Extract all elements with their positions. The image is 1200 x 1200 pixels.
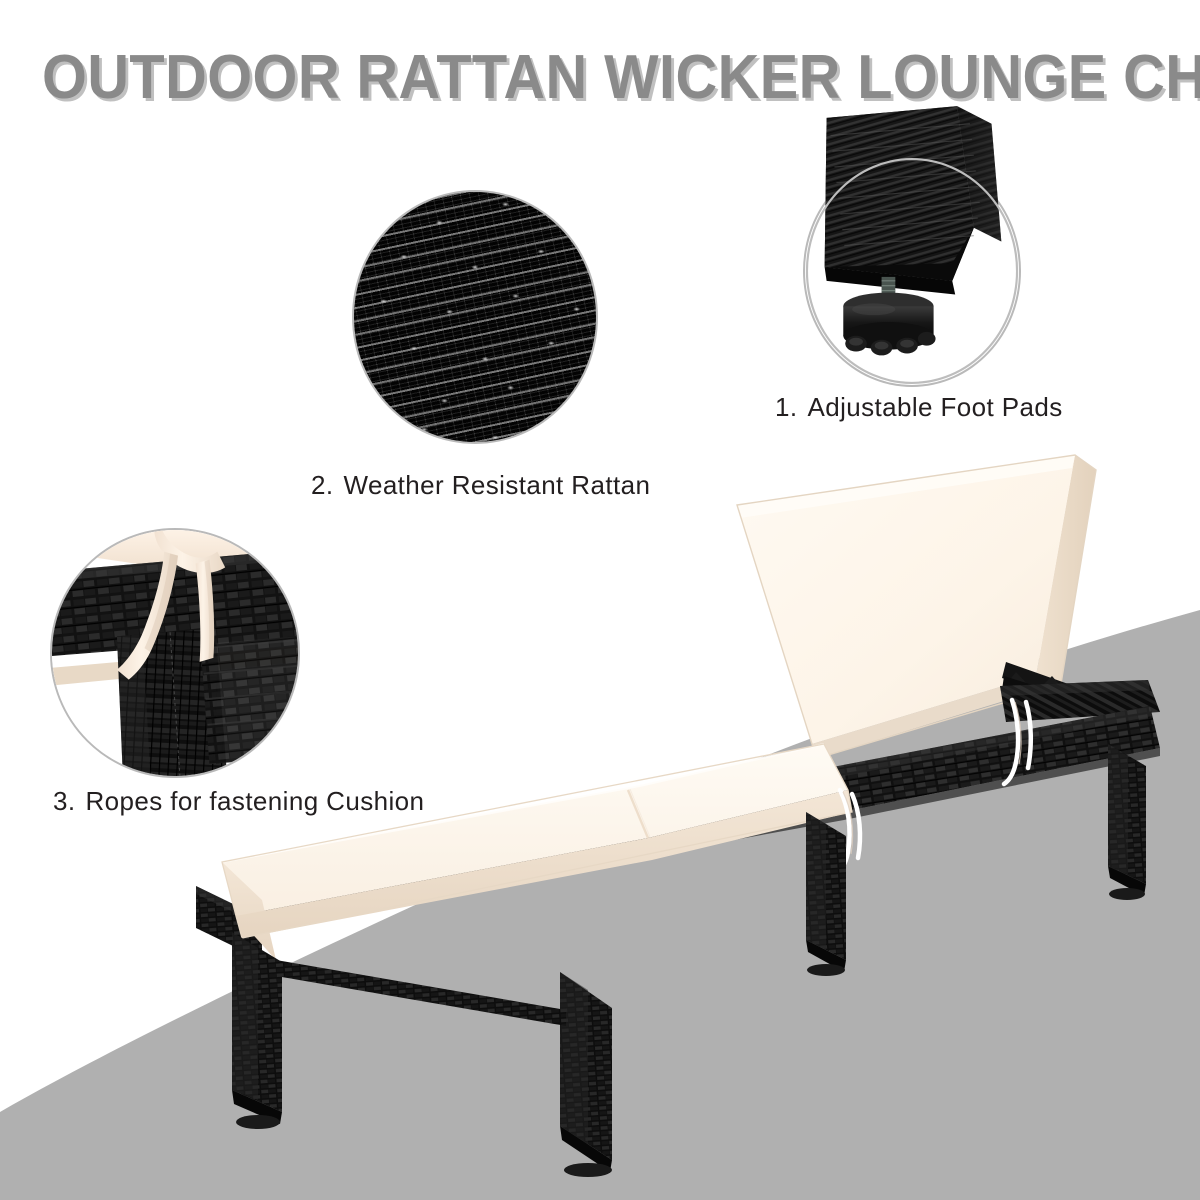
- callout-ropes-for-fastening-cushion: [50, 528, 300, 778]
- caption-label-3: Ropes for fastening Cushion: [85, 786, 424, 816]
- rattan-weave-highlights: [352, 190, 598, 444]
- caption-label-1: Adjustable Foot Pads: [807, 392, 1062, 422]
- caption-number-2: 2.: [311, 470, 333, 500]
- callout-adjustable-foot-pads: [803, 155, 1021, 387]
- callout-weather-resistant-rattan: [352, 190, 598, 444]
- foot-pad-circle-outline: [805, 157, 1019, 385]
- caption-ropes-for-fastening-cushion: 3.Ropes for fastening Cushion: [53, 786, 424, 817]
- caption-number-1: 1.: [775, 392, 797, 422]
- caption-adjustable-foot-pads: 1.Adjustable Foot Pads: [775, 392, 1063, 423]
- page-title: OUTDOOR RATTAN WICKER LOUNGE CHAIR: [42, 42, 1158, 113]
- rope-tie-photo: [52, 530, 298, 776]
- foot-pad-circle: [803, 155, 1021, 387]
- rope-tie-circle: [50, 528, 300, 778]
- rattan-weave-circle: [352, 190, 598, 444]
- caption-number-3: 3.: [53, 786, 75, 816]
- caption-label-2: Weather Resistant Rattan: [343, 470, 650, 500]
- product-infographic: OUTDOOR RATTAN WICKER LOUNGE CHAIR 2.Wea…: [0, 0, 1200, 1200]
- caption-weather-resistant-rattan: 2.Weather Resistant Rattan: [311, 470, 650, 501]
